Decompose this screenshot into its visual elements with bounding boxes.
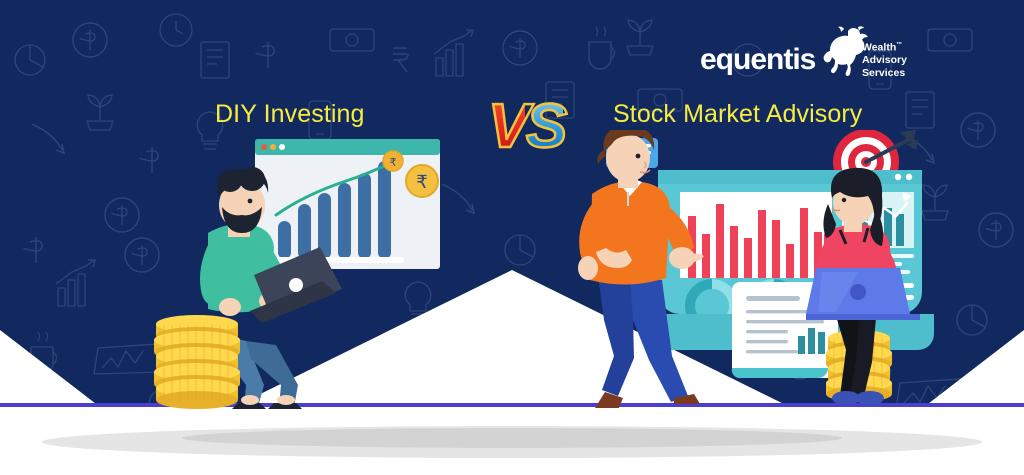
logo-tagline-line2: Advisory bbox=[862, 54, 907, 66]
svg-text:₹: ₹ bbox=[390, 157, 397, 169]
banner-root: equentis Wealth™ Advisory Services DIY I… bbox=[0, 0, 1024, 475]
browser-window-chart: ₹ ₹ bbox=[255, 139, 440, 269]
vs-letter-s: S bbox=[526, 92, 563, 162]
logo-tagline: Wealth™ Advisory Services bbox=[862, 39, 907, 79]
right-scene-stock-market-advisory bbox=[560, 130, 980, 420]
logo-tagline-line3: Services bbox=[862, 67, 905, 79]
logo-wordmark: equentis bbox=[700, 43, 815, 77]
rupee-coin-small: ₹ bbox=[383, 151, 403, 171]
svg-text:₹: ₹ bbox=[416, 172, 427, 192]
logo-tagline-line1: Wealth bbox=[862, 42, 896, 54]
left-scene-diy-investing: ₹ ₹ bbox=[150, 135, 450, 420]
vs-letter-v: V bbox=[488, 92, 525, 162]
logo-trademark: ™ bbox=[896, 42, 902, 48]
left-title: DIY Investing bbox=[215, 100, 365, 129]
rupee-coin-large: ₹ bbox=[406, 165, 438, 197]
coin-stack-left bbox=[154, 315, 240, 409]
right-title: Stock Market Advisory bbox=[613, 100, 862, 129]
